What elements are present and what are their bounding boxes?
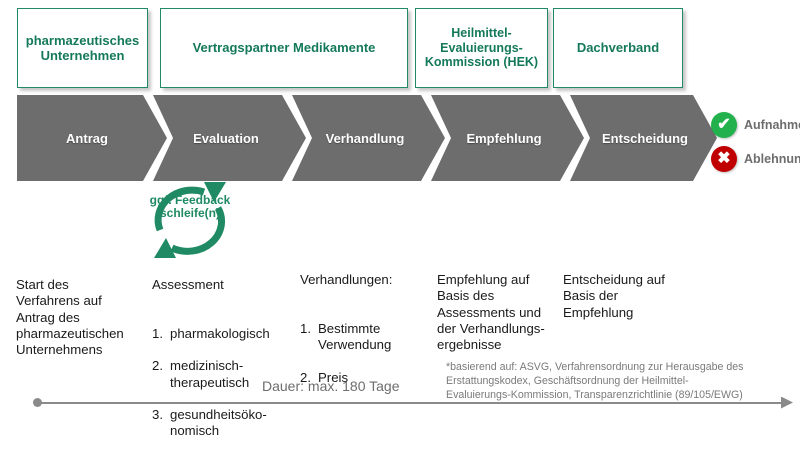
process-band: Antrag Evaluation Verhandlung Empfehlung…	[17, 95, 717, 181]
list-item-number: 2.	[152, 358, 170, 374]
check-circle-icon: ✔	[711, 112, 737, 138]
timeline-line	[39, 402, 784, 405]
list-item-text: Bestimmte Verwendung	[318, 321, 391, 352]
stage-empfehlung: Empfehlung	[434, 95, 574, 181]
stage-verhandlung: Verhandlung	[295, 95, 435, 181]
description-head: Start des Verfahrens auf Antrag des phar…	[16, 277, 151, 358]
description-empfehlung: Empfehlung auf Basis des Assessments und…	[437, 256, 559, 370]
duration-label: Dauer: max. 180 Tage	[262, 378, 400, 394]
description-head: Assessment	[152, 277, 292, 293]
actor-label: Dachverband	[577, 40, 659, 55]
feedback-loop: ggf. Feedback schleife(n)	[142, 180, 238, 260]
list-item-text: medizinisch- therapeutisch	[170, 358, 249, 389]
stage-entscheidung: Entscheidung	[573, 95, 717, 181]
list-item-text: pharmakologisch	[170, 326, 270, 341]
actor-box-pharmazeutisches-unternehmen: pharmazeutisches Unternehmen	[17, 8, 148, 88]
actor-label: pharmazeutisches Unternehmen	[22, 33, 143, 64]
description-head: Empfehlung auf Basis des Assessments und…	[437, 272, 559, 353]
actor-label: Vertragspartner Medikamente	[193, 40, 376, 55]
description-antrag: Start des Verfahrens auf Antrag des phar…	[16, 261, 151, 375]
process-diagram: pharmazeutisches Unternehmen Vertragspar…	[0, 0, 800, 414]
description-evaluation: Assessment 1.pharmakologisch 2.medizinis…	[152, 261, 292, 472]
actor-box-vertragspartner-medikamente: Vertragspartner Medikamente	[160, 8, 408, 88]
stage-evaluation: Evaluation	[156, 95, 296, 181]
list-item: 1.pharmakologisch	[152, 326, 292, 342]
outcome-ablehnung: ✖ Ablehnung	[711, 146, 800, 172]
description-head: Entscheidung auf Basis der Empfehlung	[563, 272, 698, 321]
circular-arrows-icon	[142, 180, 238, 260]
description-entscheidung: Entscheidung auf Basis der Empfehlung	[563, 256, 698, 337]
outcome-aufnahme: ✔ Aufnahme	[711, 112, 800, 138]
outcome-label: Ablehnung	[744, 152, 800, 166]
actor-label: Heilmittel- Evaluierungs- Kommission (HE…	[420, 26, 543, 70]
timeline-arrowhead-icon	[781, 397, 793, 409]
stage-antrag: Antrag	[17, 95, 157, 181]
timeline-arrow	[33, 396, 793, 410]
cross-circle-icon: ✖	[711, 146, 737, 172]
outcome-label: Aufnahme	[744, 118, 800, 132]
list-item: 1.Bestimmte Verwendung	[300, 321, 432, 353]
list-item-text: gesundheitsöko- nomisch	[170, 407, 267, 438]
list-item-number: 1.	[152, 326, 170, 342]
actor-box-heilmittel-evaluierungs-kommission: Heilmittel- Evaluierungs- Kommission (HE…	[415, 8, 548, 88]
description-head: Verhandlungen:	[300, 272, 432, 288]
list-item-number: 1.	[300, 321, 318, 337]
list-item: 3.gesundheitsöko- nomisch	[152, 407, 292, 439]
actor-box-dachverband: Dachverband	[553, 8, 683, 88]
